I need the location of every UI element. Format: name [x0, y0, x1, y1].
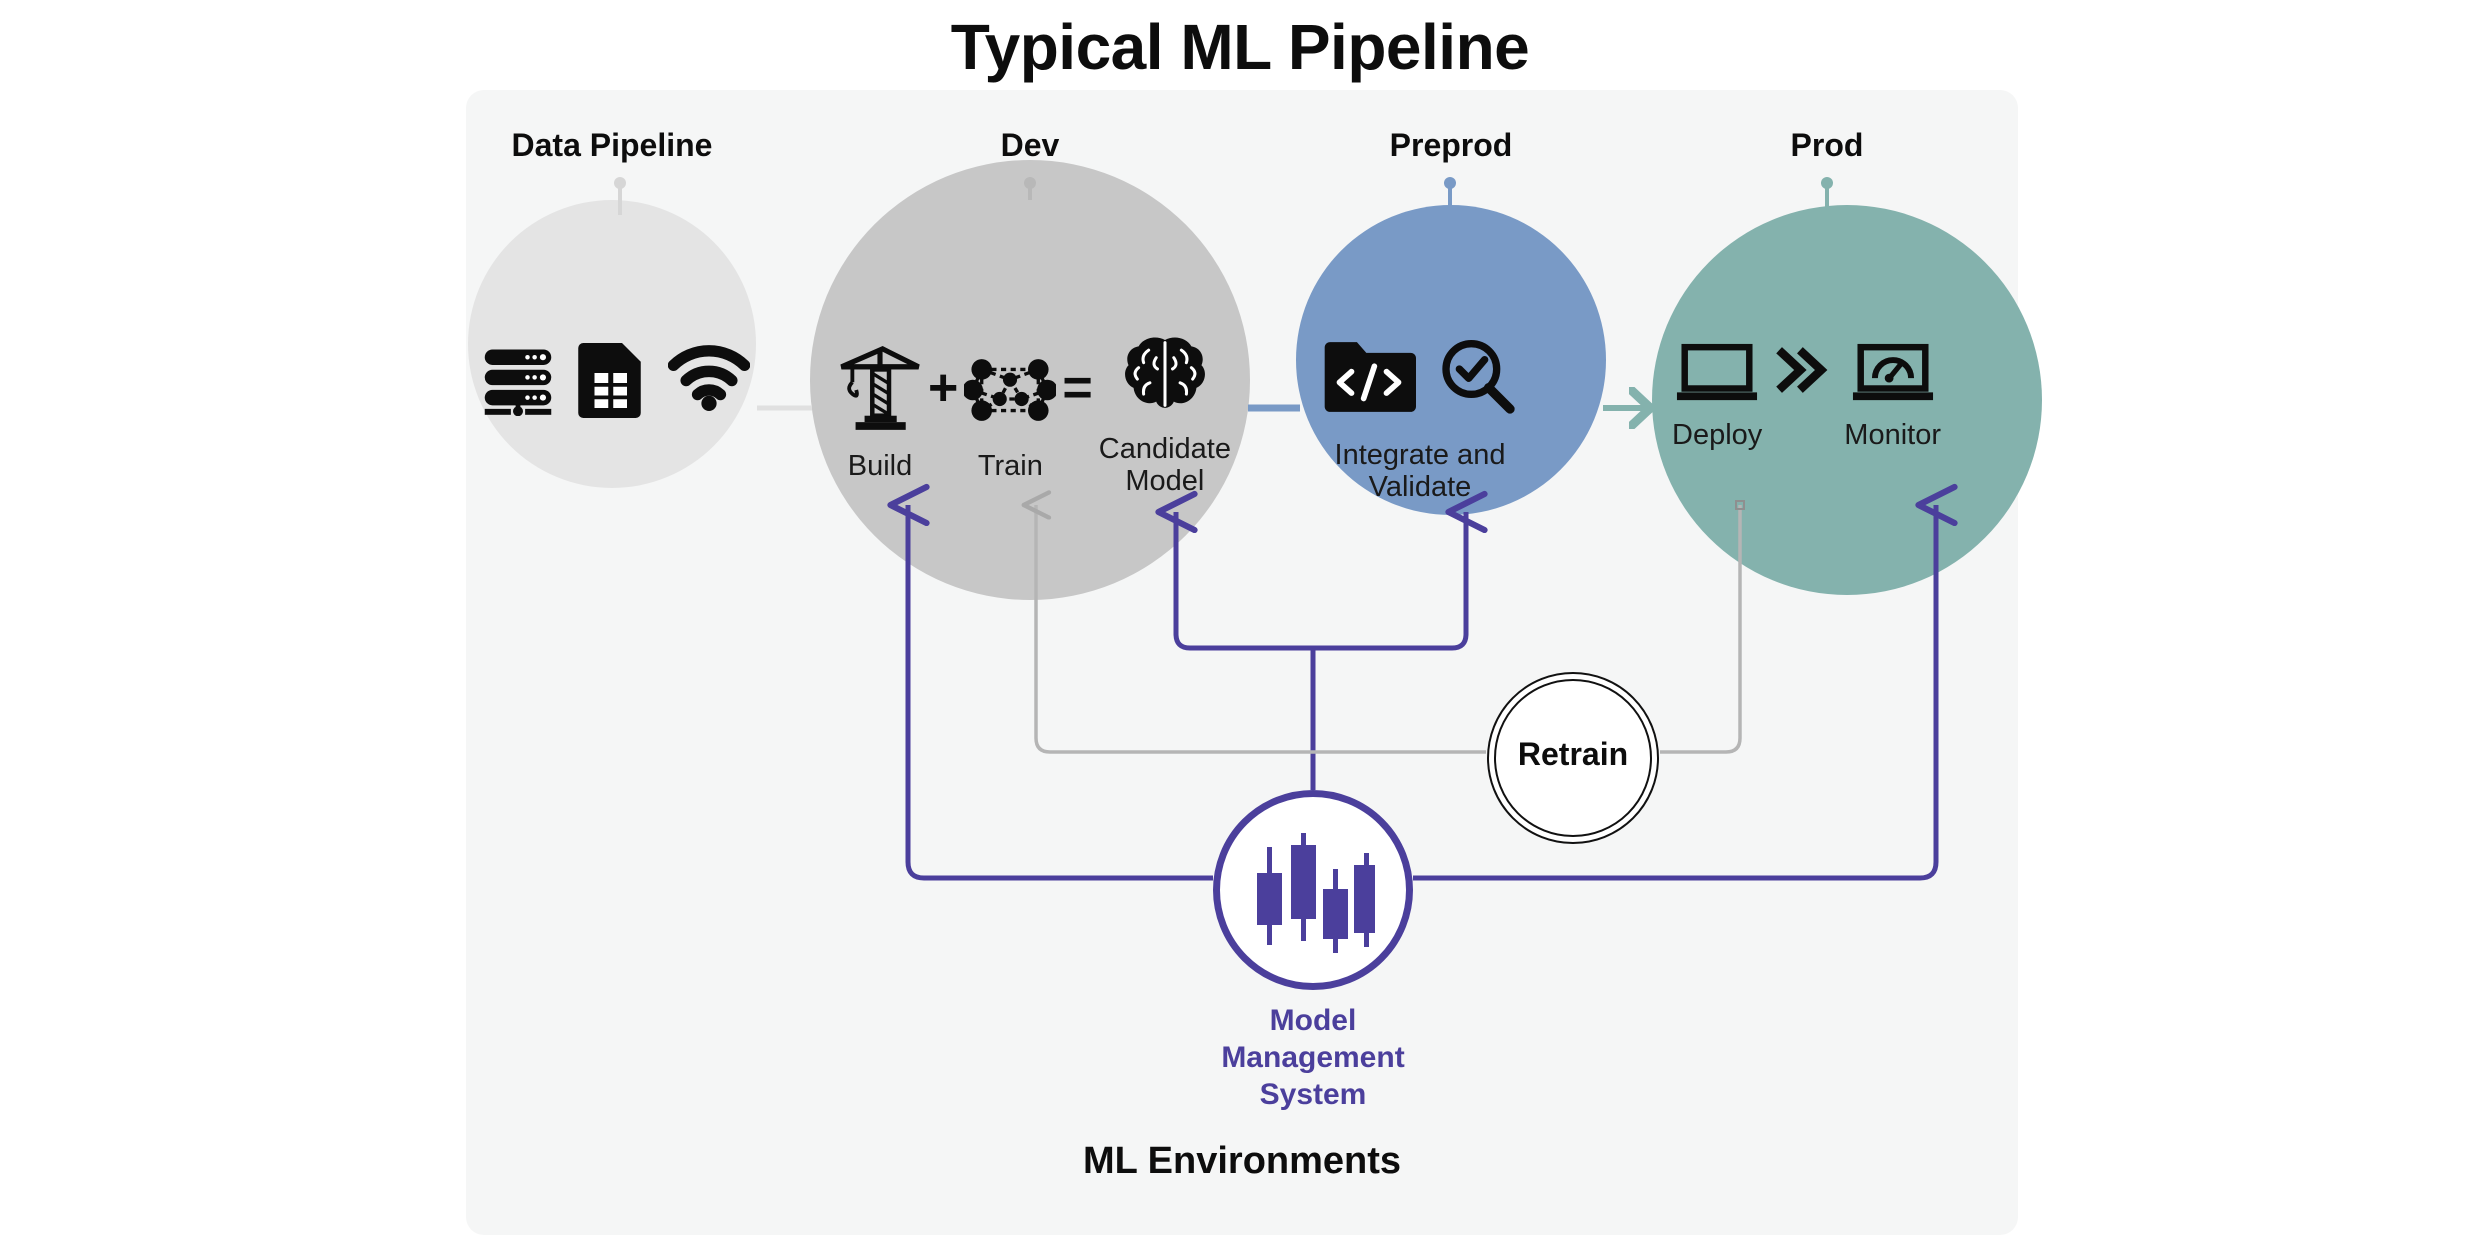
- flow-mms-to-monitor: [1413, 505, 1936, 878]
- dev-step-candidate-model[interactable]: Candidate Model: [1099, 330, 1231, 498]
- double-chevron-right-icon: [1762, 344, 1844, 401]
- prod-step-label-deploy: Deploy: [1672, 419, 1762, 451]
- dev-operator-equals: =: [1056, 358, 1098, 418]
- flow-mms-to-build: [908, 505, 1213, 878]
- brain-icon: [1121, 330, 1209, 423]
- prod-step-monitor[interactable]: Monitor: [1844, 342, 1941, 451]
- env-pin-data-pipeline: [614, 177, 626, 215]
- dev-step-label-candidate-model: Candidate Model: [1099, 433, 1231, 498]
- prod-step-label-monitor: Monitor: [1844, 419, 1941, 451]
- dev-step-train[interactable]: Train: [964, 345, 1056, 482]
- dev-step-build[interactable]: Build: [838, 345, 922, 482]
- laptop-gauge-icon: [1850, 342, 1936, 409]
- model-management-system-node[interactable]: [1213, 790, 1413, 990]
- env-label-dev: Dev: [830, 127, 1230, 164]
- dev-step-label-train: Train: [978, 450, 1043, 482]
- dev-icon-row: Build + Train =: [838, 330, 1231, 498]
- prod-step-deploy[interactable]: Deploy: [1672, 342, 1762, 451]
- candlestick-chart-icon: [1251, 825, 1375, 970]
- sim-card-icon: [576, 338, 648, 423]
- laptop-icon: [1674, 342, 1760, 409]
- flow-deploy-to-retrain: [1660, 505, 1740, 752]
- dev-operator-plus: +: [922, 358, 964, 418]
- env-label-data-pipeline: Data Pipeline: [412, 127, 812, 164]
- preprod-step-label: Integrate and Validate: [1335, 439, 1506, 504]
- env-pin-prod: [1821, 177, 1833, 225]
- neural-network-icon: [964, 345, 1056, 440]
- dev-step-label-build: Build: [848, 450, 913, 482]
- env-pin-preprod: [1444, 177, 1456, 220]
- env-pin-dev: [1024, 177, 1036, 200]
- env-label-prod: Prod: [1627, 127, 2027, 164]
- magnifier-check-icon: [1438, 338, 1518, 421]
- retrain-label: Retrain: [1487, 736, 1659, 773]
- ml-environments-footer-label: ML Environments: [466, 1140, 2018, 1183]
- wifi-signal-icon: [668, 345, 750, 416]
- crane-icon: [838, 345, 922, 440]
- preprod-icon-row: Integrate and Validate: [1322, 338, 1518, 504]
- env-label-preprod: Preprod: [1251, 127, 1651, 164]
- data-pipeline-icon-row: [480, 338, 750, 423]
- code-folder-icon: [1322, 339, 1416, 420]
- server-rack-icon: [480, 340, 556, 421]
- preprod-step-integrate-validate[interactable]: Integrate and Validate: [1322, 338, 1518, 504]
- flow-retrain-to-train: [1036, 505, 1486, 752]
- flow-mms-to-integrate-validate: [1452, 512, 1466, 648]
- model-management-system-label: Model Management System: [1163, 1002, 1463, 1114]
- flow-mms-to-candidate-model: [1176, 512, 1190, 648]
- prod-icon-row: Deploy Monitor: [1672, 342, 1941, 451]
